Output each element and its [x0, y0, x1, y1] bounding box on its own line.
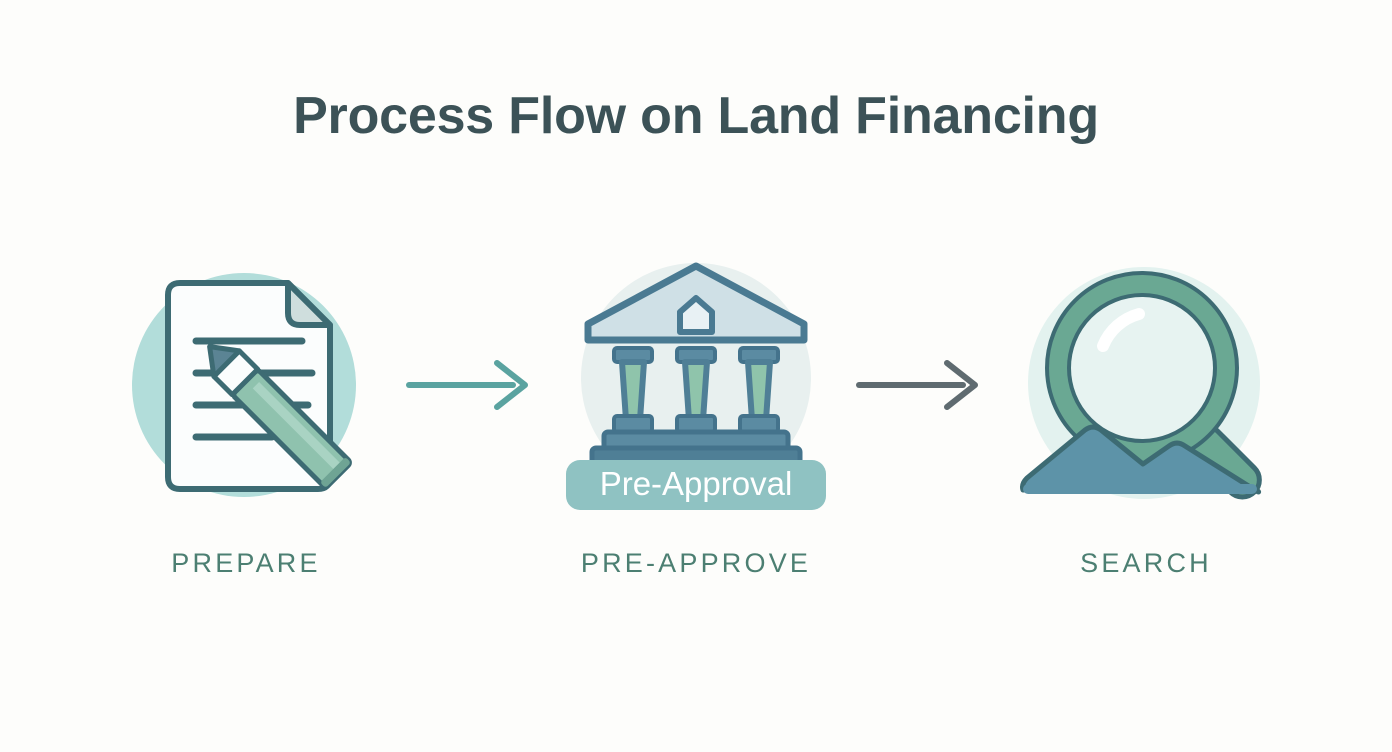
magnifier-over-land-icon	[1011, 250, 1281, 520]
arrow-preapprove-to-search	[846, 240, 996, 530]
step-label-search: SEARCH	[1080, 548, 1212, 579]
search-icon-wrap	[996, 240, 1296, 530]
column-1-shaft	[622, 362, 644, 420]
step-label-pre-approve: PRE-APPROVE	[581, 548, 811, 579]
column-3-shaft	[748, 362, 770, 420]
step-search[interactable]: SEARCH	[996, 240, 1296, 579]
page-title: Process Flow on Land Financing	[0, 88, 1392, 145]
bank-columns	[614, 348, 778, 432]
step-prepare[interactable]: PREPARE	[96, 240, 396, 579]
steps-row: PREPARE	[0, 240, 1392, 640]
pre-approval-badge-label: Pre-Approval	[600, 465, 793, 502]
step-label-prepare: PREPARE	[171, 548, 320, 579]
pre-approve-icon-wrap: Pre-Approval	[546, 240, 846, 530]
document-with-pencil-icon	[116, 255, 376, 515]
column-2-shaft	[685, 362, 707, 420]
prepare-icon-wrap	[96, 240, 396, 530]
document-folded-corner	[288, 283, 330, 325]
step-pre-approve[interactable]: Pre-Approval PRE-APPROVE	[546, 240, 846, 579]
process-flow-infographic: Process Flow on Land Financing	[0, 0, 1392, 752]
land-base	[1023, 484, 1257, 494]
arrow-prepare-to-preapprove	[396, 240, 546, 530]
bank-building-icon: Pre-Approval	[556, 248, 836, 523]
